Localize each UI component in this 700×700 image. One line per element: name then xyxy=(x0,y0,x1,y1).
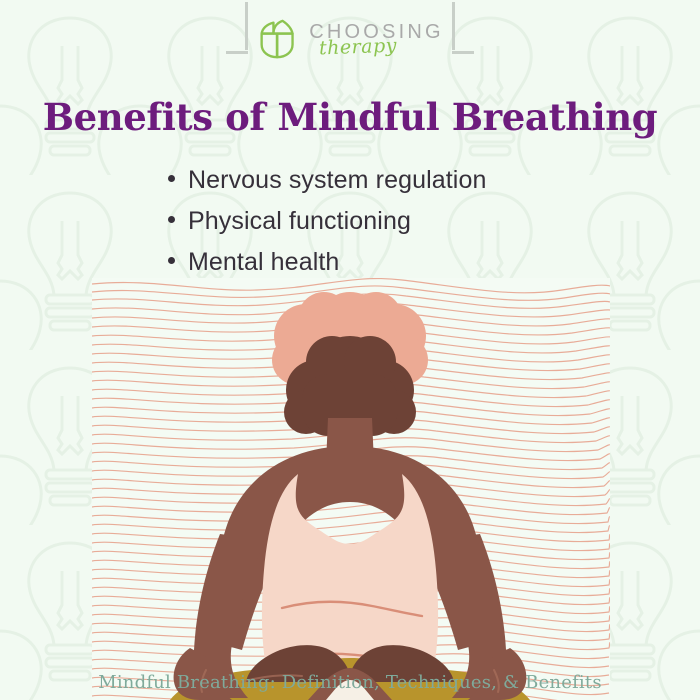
page-title: Benefits of Mindful Breathing xyxy=(0,95,700,139)
list-item: Mental health xyxy=(168,242,486,283)
brand-name-secondary: therapy xyxy=(319,36,398,58)
frame-bracket-right xyxy=(452,2,474,54)
bullet-dot-icon xyxy=(168,216,175,223)
caption-text: Mindful Breathing: Definition, Technique… xyxy=(0,672,700,693)
meditation-illustration xyxy=(92,278,610,700)
bullet-dot-icon xyxy=(168,175,175,182)
infographic-canvas: CHOOSING therapy Benefits of Mindful Bre… xyxy=(0,0,700,700)
lotus-leaf-icon xyxy=(256,19,300,59)
list-item-label: Mental health xyxy=(188,242,339,283)
header-bar: CHOOSING therapy xyxy=(0,0,700,78)
list-item-label: Nervous system regulation xyxy=(188,160,486,201)
frame-bracket-left xyxy=(226,2,248,54)
benefits-list: Nervous system regulation Physical funct… xyxy=(168,160,486,283)
list-item: Physical functioning xyxy=(168,201,486,242)
meditating-woman-graphic xyxy=(92,278,610,700)
list-item: Nervous system regulation xyxy=(168,160,486,201)
brand-logo[interactable]: CHOOSING therapy xyxy=(256,19,444,59)
list-item-label: Physical functioning xyxy=(188,201,411,242)
bullet-dot-icon xyxy=(168,257,175,264)
